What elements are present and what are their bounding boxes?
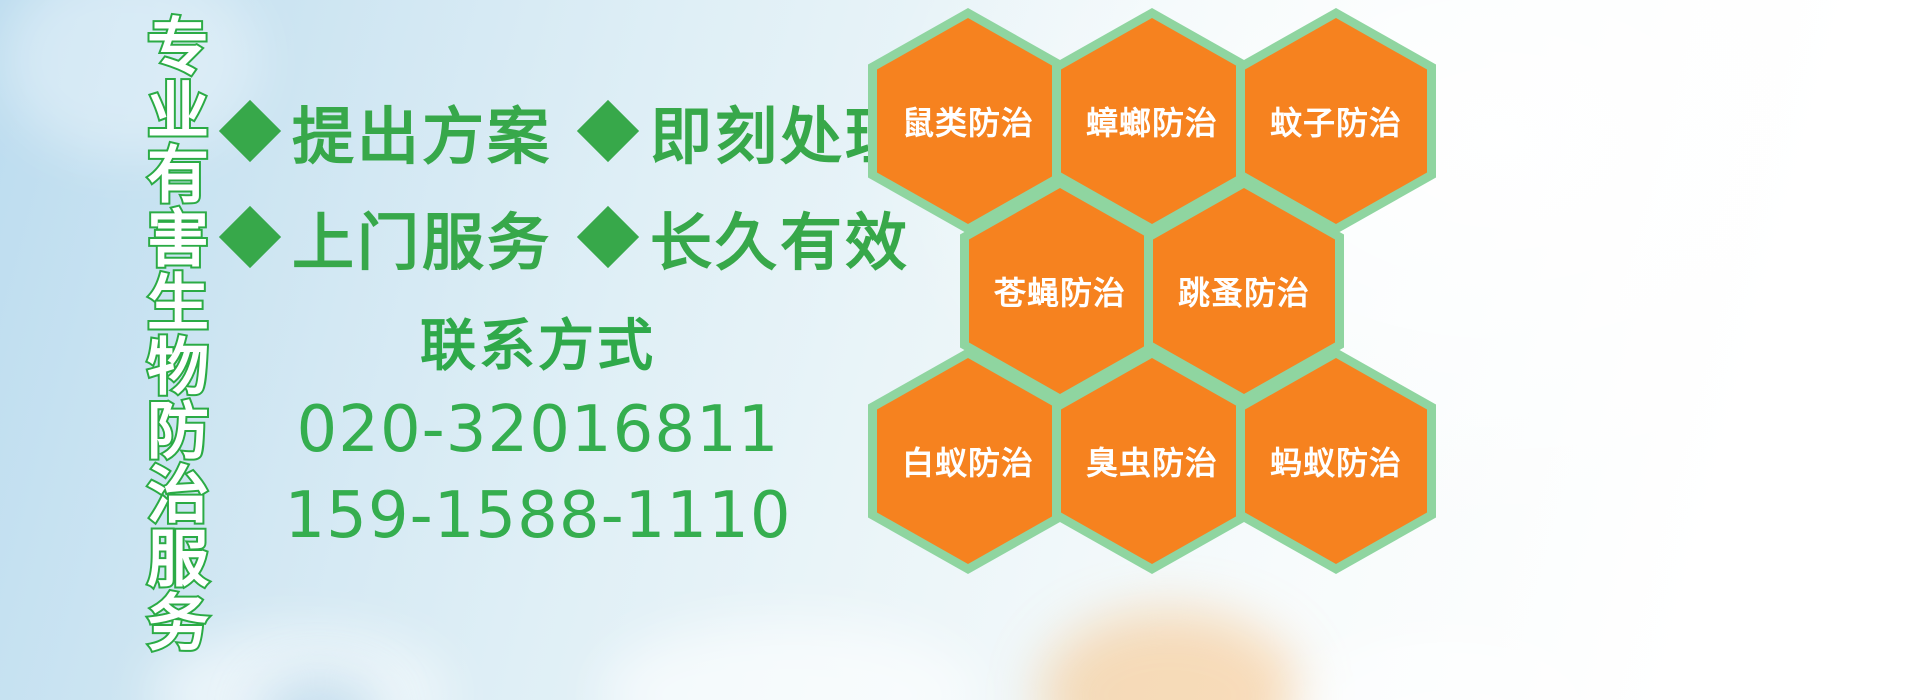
background-blur-blob: [1040, 610, 1300, 700]
service-label: 臭虫防治: [1086, 438, 1218, 484]
feature-item: 提出方案: [228, 86, 552, 176]
hexagon-inner: 鼠类防治: [877, 18, 1059, 224]
contact-phone-landline[interactable]: 020-32016811: [228, 388, 848, 474]
service-label: 苍蝇防治: [994, 268, 1126, 314]
background-blur-blob: [600, 620, 980, 700]
service-label: 蚊子防治: [1270, 98, 1402, 144]
pest-control-banner: 专业有害生物防治服务 提出方案 即刻处理 上门服务 长久有效 联系方式 0: [0, 0, 1920, 700]
diamond-icon: [219, 100, 281, 162]
service-label: 白蚁防治: [902, 438, 1034, 484]
background-blur-blob: [1300, 630, 1600, 700]
diamond-icon: [219, 206, 281, 268]
hexagon-inner: 苍蝇防治: [969, 188, 1151, 394]
hexagon-inner: 跳蚤防治: [1153, 188, 1335, 394]
feature-item: 上门服务: [228, 192, 552, 282]
feature-label: 提出方案: [292, 86, 552, 176]
feature-row: 提出方案 即刻处理: [228, 78, 868, 184]
vertical-company-title: 专业有害生物防治服务: [108, 14, 204, 554]
hexagon-inner: 臭虫防治: [1061, 358, 1243, 564]
feature-list: 提出方案 即刻处理 上门服务 长久有效: [228, 78, 868, 290]
service-label: 蟑螂防治: [1086, 98, 1218, 144]
feature-row: 上门服务 长久有效: [228, 184, 868, 290]
service-label: 鼠类防治: [902, 98, 1034, 144]
diamond-icon: [577, 206, 639, 268]
diamond-icon: [577, 100, 639, 162]
feature-label: 上门服务: [292, 192, 552, 282]
service-label: 跳蚤防治: [1178, 268, 1310, 314]
hexagon-inner: 白蚁防治: [877, 358, 1059, 564]
background-blur-blob: [260, 680, 380, 700]
contact-phone-mobile[interactable]: 159-1588-1110: [228, 474, 848, 560]
hexagon-inner: 蚂蚁防治: [1245, 358, 1427, 564]
contact-title: 联系方式: [228, 312, 848, 382]
hexagon-inner: 蟑螂防治: [1061, 18, 1243, 224]
service-label: 蚂蚁防治: [1270, 438, 1402, 484]
service-honeycomb: 鼠类防治 蟑螂防治 蚊子防治 苍蝇防治 跳蚤防治 白蚁防治: [860, 0, 1480, 580]
hexagon-inner: 蚊子防治: [1245, 18, 1427, 224]
contact-block: 联系方式 020-32016811 159-1588-1110: [228, 312, 848, 560]
